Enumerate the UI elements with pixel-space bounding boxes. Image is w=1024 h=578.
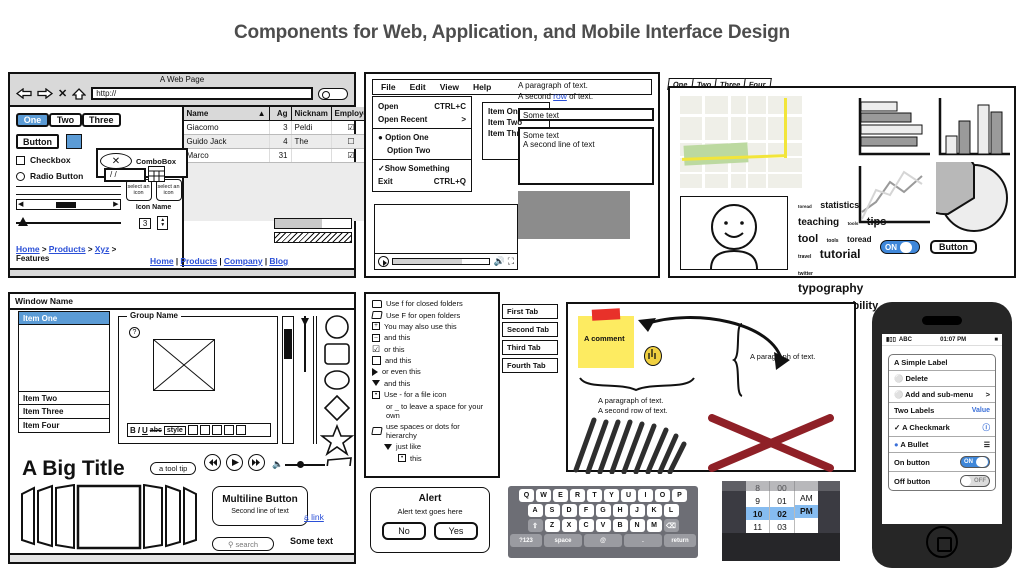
keyboard-row-3: ⇧ Z X C V B N M ⌫ <box>510 519 696 532</box>
key-z[interactable]: Z <box>545 519 560 532</box>
browser-toolbar: ✕ http:// <box>10 84 354 107</box>
tab-fourth[interactable]: Fourth Tab <box>502 358 558 373</box>
divider <box>16 186 121 187</box>
annotation-line-1: A paragraph of text. <box>598 396 663 405</box>
on-toggle[interactable]: ON <box>880 240 920 254</box>
toggle-and-button-row: ON Button <box>880 240 977 254</box>
picker-bottom-shade <box>722 533 840 561</box>
tree-item[interactable]: and this <box>368 378 496 389</box>
phone-row-off-button[interactable]: Off button OFF <box>889 472 995 490</box>
tree-item[interactable]: Use f for closed folders <box>368 298 496 309</box>
key-r[interactable]: R <box>570 489 585 502</box>
footer-link-products[interactable]: Products <box>180 256 217 266</box>
key-q[interactable]: Q <box>519 489 534 502</box>
volume-track <box>285 464 325 466</box>
on-screen-keyboard: Q W E R T Y U I O P A S D F G H J K L ⇧ … <box>508 486 698 558</box>
scroll-thumb[interactable] <box>284 329 292 359</box>
some-text-label: Some text <box>290 536 333 546</box>
home-icon[interactable] <box>72 88 86 100</box>
checkmark-icon: ✓ <box>894 423 900 432</box>
tree-item[interactable]: •this <box>368 453 496 464</box>
url-input[interactable]: http:// <box>91 87 313 100</box>
rich-text-toolbar: B I U abc style <box>127 423 271 437</box>
paragraph-line-1: A paragraph of text. <box>518 80 654 91</box>
tree-item[interactable]: –and this <box>368 332 496 343</box>
breadcrumb-home[interactable]: Home <box>16 244 40 254</box>
list-icon[interactable] <box>224 425 234 435</box>
key-h[interactable]: H <box>613 504 628 517</box>
numeric-key[interactable]: ?123 <box>510 534 542 547</box>
key-v[interactable]: V <box>596 519 611 532</box>
multiline-button-line2: Second line of text <box>213 508 307 515</box>
menu-item-option-two[interactable]: Option Two <box>373 144 471 157</box>
tag-item[interactable]: travel <box>798 255 811 260</box>
fast-forward-icon[interactable] <box>248 454 265 471</box>
tree-item[interactable]: or even this <box>368 366 496 377</box>
menu-edit[interactable]: Edit <box>410 82 426 92</box>
a-link[interactable]: a link <box>304 512 324 522</box>
align-center-icon[interactable] <box>200 425 210 435</box>
list-box: Item One Item Two Item Three Item Four <box>18 312 110 433</box>
menu-divider <box>373 128 471 129</box>
key-t[interactable]: T <box>587 489 602 502</box>
browser-window-title: A Web Page <box>10 74 354 84</box>
map-highway-vertical <box>784 98 787 158</box>
phone-row-add-submenu[interactable]: ⚪ Add and sub-menu > <box>889 387 995 403</box>
volume-knob[interactable] <box>297 461 304 468</box>
folder-open-icon <box>371 311 382 319</box>
close-x-icon[interactable]: ✕ <box>100 153 132 169</box>
minus-box-icon[interactable]: – <box>372 334 380 342</box>
cell-name: Marco <box>184 149 270 162</box>
fullscreen-icon[interactable]: ⛶ <box>508 256 514 267</box>
style-dropdown[interactable]: style <box>164 426 186 435</box>
strike-button[interactable]: abc <box>150 427 162 434</box>
pie-chart <box>936 162 1012 234</box>
player-progress[interactable] <box>392 258 490 265</box>
color-swatch[interactable] <box>66 134 82 149</box>
image-placeholder <box>518 191 630 239</box>
footer-link-company[interactable]: Company <box>224 256 263 266</box>
key-m[interactable]: M <box>647 519 662 532</box>
cell-nick: Peldi <box>292 121 332 134</box>
column-age[interactable]: Ag <box>270 107 292 120</box>
checkbox-label: Checkbox <box>30 155 71 165</box>
key-k[interactable]: K <box>647 504 662 517</box>
slider-knob[interactable] <box>18 217 28 226</box>
key-o[interactable]: O <box>655 489 670 502</box>
cell-nick <box>292 149 332 162</box>
menu-item-show-something[interactable]: ✓Show Something <box>373 162 471 175</box>
alert-body: Alert text goes here <box>371 507 489 516</box>
scroll-left-icon[interactable]: ◀ <box>18 201 23 208</box>
key-n[interactable]: N <box>630 519 645 532</box>
key-p[interactable]: P <box>672 489 687 502</box>
key-f[interactable]: F <box>579 504 594 517</box>
red-x-mark <box>706 414 836 472</box>
inline-link[interactable]: row <box>553 91 567 101</box>
key-e[interactable]: E <box>553 489 568 502</box>
calendar-icon[interactable] <box>148 166 165 182</box>
checkbox-icon[interactable] <box>16 156 25 165</box>
table-header: Name▲ Ag Nicknam Employe <box>184 107 372 121</box>
minute-option[interactable]: 03 <box>770 520 793 533</box>
tree-item[interactable]: or _ to leave a space for your own <box>368 400 496 420</box>
file-icon: • <box>372 391 380 399</box>
tab-first[interactable]: First Tab <box>502 304 558 319</box>
check-icon: ✓ <box>378 164 385 173</box>
window-status-bar <box>10 553 354 562</box>
triangle-down-icon[interactable] <box>384 444 392 450</box>
breadcrumb-sep: > <box>42 245 49 254</box>
alert-dialog: Alert Alert text goes here No Yes <box>370 487 490 553</box>
signal-bars-icon: ▮▯▯ <box>886 336 896 343</box>
select-an-icon-button-1[interactable]: select an icon <box>126 179 152 201</box>
phone-status-bar: ▮▯▯ ABC 01:07 PM ■ <box>882 334 1002 346</box>
checkbox-empty-icon[interactable] <box>372 356 381 365</box>
toggle-off[interactable]: OFF <box>960 475 990 487</box>
alert-title: Alert <box>371 493 489 504</box>
slider[interactable] <box>16 217 121 227</box>
play-icon[interactable] <box>378 256 389 267</box>
table-empty-area <box>184 163 372 221</box>
search-input[interactable]: ⚲ search <box>212 537 274 551</box>
map-widget[interactable] <box>680 96 802 188</box>
volume-icon[interactable]: 🔈 <box>272 459 283 470</box>
rewind-icon[interactable] <box>204 454 221 471</box>
textarea-line-2: A second line of text <box>523 140 649 149</box>
help-circle-icon[interactable]: ? <box>129 327 140 338</box>
plus-box-icon[interactable]: + <box>372 322 380 330</box>
radio-label: Radio Button <box>30 171 83 181</box>
tab-group: One Two Three <box>16 113 121 127</box>
vertical-slider[interactable] <box>300 316 310 444</box>
tab-one[interactable]: One <box>16 113 49 127</box>
tree-item[interactable]: use spaces or dots for hierarchy <box>368 421 496 441</box>
at-key[interactable]: @ <box>584 534 622 547</box>
progress-fill <box>275 219 322 228</box>
breadcrumb-sep2: > <box>88 245 95 254</box>
annotations-panel: A comment A paragraph of text. A paragra… <box>566 302 856 472</box>
multiline-button[interactable]: Multiline Button Second line of text <box>212 486 308 526</box>
cell-name: Guido Jack <box>184 135 270 148</box>
toggle-knob <box>900 242 912 253</box>
phone-carrier: ABC <box>899 337 912 343</box>
browser-controls-column: One Two Three Button Checkbox Radio Butt… <box>10 107 126 267</box>
table-row[interactable]: Guido Jack 4 The ☐ <box>184 135 372 149</box>
textarea[interactable]: Some text A second line of text <box>518 127 654 185</box>
underline-button[interactable]: U <box>142 426 148 435</box>
key-y[interactable]: Y <box>604 489 619 502</box>
reorder-icon[interactable]: ☰ <box>984 441 990 449</box>
phone-row-checkmark[interactable]: ✓ A Checkmark ⓘ <box>889 419 995 437</box>
phone-row-simple-label[interactable]: A Simple Label <box>889 355 995 371</box>
horizontal-scrollbar[interactable]: ◀ ▶ <box>16 199 121 210</box>
key-x[interactable]: X <box>562 519 577 532</box>
minute-option[interactable]: 01 <box>770 494 793 507</box>
tab-content-panel: toread statistics teaching tools tips to… <box>668 86 1016 278</box>
group-box: Group Name ? B I U abc style <box>118 316 278 444</box>
folder-closed-icon <box>372 300 382 308</box>
button[interactable]: Button <box>16 134 59 149</box>
status-bar <box>10 268 354 276</box>
window-title: Window Name <box>10 294 354 310</box>
toggle-on[interactable]: ON <box>960 456 990 468</box>
phone-row-two-labels[interactable]: Two Labels Value <box>889 403 995 419</box>
align-right-icon[interactable] <box>212 425 222 435</box>
footer-links: Home | Products | Company | Blog <box>150 256 288 266</box>
bullet-icon: ● <box>894 440 899 449</box>
vertical-scrollbar[interactable] <box>282 316 294 444</box>
yes-button[interactable]: Yes <box>434 522 478 540</box>
footer-link-blog[interactable]: Blog <box>269 256 288 266</box>
person-avatar-icon <box>680 196 788 270</box>
vertical-tab-list: First Tab Second Tab Third Tab Fourth Ta… <box>502 304 558 376</box>
triangle-right-icon[interactable] <box>372 368 378 376</box>
breadcrumb: Home > Products > Xyz > Features <box>16 244 126 263</box>
menu-item-exit[interactable]: Exit CTRL+Q <box>373 175 471 188</box>
divider-2 <box>16 194 121 195</box>
cell-name: Giacomo <box>184 121 270 134</box>
minute-option-selected[interactable]: 02 <box>770 507 793 520</box>
sort-asc-icon: ▲ <box>258 109 266 118</box>
checkbox-checked-icon[interactable]: ☑ <box>372 345 380 353</box>
meridiem-option-selected[interactable]: PM <box>795 505 818 518</box>
map-park-area <box>684 142 749 165</box>
spinner-value[interactable]: 3 <box>139 218 151 229</box>
key-c[interactable]: C <box>579 519 594 532</box>
radio-selected-icon: ● <box>378 133 383 142</box>
media-controls <box>204 454 265 471</box>
keyboard-row-1: Q W E R T Y U I O P <box>510 489 696 502</box>
radio-icon[interactable] <box>16 172 25 181</box>
phone-time: 01:07 PM <box>915 337 991 343</box>
tree-item[interactable]: just like <box>368 441 496 452</box>
key-u[interactable]: U <box>621 489 636 502</box>
slider-track <box>16 222 121 224</box>
battery-icon: ■ <box>994 337 998 343</box>
textarea-line-1: Some text <box>523 131 649 140</box>
combobox-label: ComboBox <box>136 157 176 166</box>
menu-item-open[interactable]: Open CTRL+C <box>373 100 471 113</box>
breadcrumb-products[interactable]: Products <box>49 244 86 254</box>
menu-view[interactable]: View <box>440 82 459 92</box>
menus-panel: File Edit View Help Open CTRL+C Open Rec… <box>364 72 660 278</box>
keyboard-row-2: A S D F G H J K L <box>510 504 696 517</box>
sticky-note[interactable]: A comment <box>578 316 634 368</box>
return-key[interactable]: return <box>664 534 696 547</box>
scribble-mark <box>572 416 690 474</box>
key-s[interactable]: S <box>545 504 560 517</box>
menu-help[interactable]: Help <box>473 82 491 92</box>
tag-item[interactable]: typography <box>798 282 863 295</box>
folder-open-icon <box>371 427 382 435</box>
back-arrow-icon[interactable] <box>16 88 32 99</box>
phone-speaker <box>922 316 962 325</box>
hour-option-selected[interactable]: 10 <box>746 507 769 520</box>
cell-age: 31 <box>270 149 292 162</box>
paragraph-line-2: A second row of text. <box>518 91 654 102</box>
no-button[interactable]: No <box>382 522 426 540</box>
progress-bar-indeterminate <box>274 232 352 243</box>
key-w[interactable]: W <box>536 489 551 502</box>
align-left-icon[interactable] <box>188 425 198 435</box>
time-picker: 8 9 10 11 12 00 01 02 03 04 AM PM <box>722 481 840 561</box>
bold-button[interactable]: B <box>130 426 136 435</box>
horizontal-bar-chart <box>852 96 932 160</box>
table-row[interactable]: Giacomo 3 Peldi ☑ <box>184 121 372 135</box>
icon-name-caption: Icon Name <box>126 204 182 211</box>
text-input[interactable]: Some text <box>518 108 654 121</box>
tag-item[interactable]: tutorial <box>820 248 861 261</box>
phone-row-bullet[interactable]: ● A Bullet ☰ <box>889 437 995 453</box>
tab-third[interactable]: Third Tab <box>502 340 558 355</box>
hour-option[interactable]: 9 <box>746 494 769 507</box>
cover-flow[interactable] <box>20 484 200 550</box>
text-widgets-column: A paragraph of text. A second row of tex… <box>518 80 654 239</box>
search-icon: ⚲ <box>228 540 234 549</box>
tree-item[interactable]: and this <box>368 355 496 366</box>
breadcrumb-features: Features <box>16 254 49 263</box>
tag-item[interactable]: tool <box>798 234 818 246</box>
list-item[interactable]: Item Four <box>18 418 110 433</box>
tab-two[interactable]: Two <box>49 113 82 127</box>
date-input[interactable]: / / <box>104 168 146 182</box>
breadcrumb-sep3: > <box>112 245 117 254</box>
shift-up-icon[interactable]: ⇧ <box>528 519 543 532</box>
triangle-down-icon[interactable] <box>372 380 380 386</box>
table-row[interactable]: Marco 31 ☑ <box>184 149 372 163</box>
phone-device: ▮▯▯ ABC 01:07 PM ■ A Simple Label ⚪ Dele… <box>872 302 1012 568</box>
vertical-bar-chart <box>932 96 1012 160</box>
tag-item[interactable]: tools <box>827 239 839 244</box>
key-g[interactable]: G <box>596 504 611 517</box>
tree-item[interactable]: +You may also use this <box>368 321 496 332</box>
sticky-note-tape <box>592 308 621 320</box>
search-icon[interactable] <box>318 88 348 100</box>
scroll-thumb[interactable] <box>56 202 76 208</box>
delete-icon: ⚪ <box>894 374 903 383</box>
tree-item[interactable]: •Use - for a file icon <box>368 389 496 400</box>
split-bar[interactable] <box>313 316 317 444</box>
tab-second[interactable]: Second Tab <box>502 322 558 337</box>
annotation-paragraph: A paragraph of text. <box>750 352 815 361</box>
forward-arrow-icon[interactable] <box>37 88 53 99</box>
curly-brace-icon <box>732 322 746 400</box>
tree-panel: Use f for closed folders Use F for open … <box>364 292 500 478</box>
shapes-column <box>320 314 360 471</box>
sticky-note-text: A comment <box>584 334 625 343</box>
list-empty-space <box>18 324 110 392</box>
tooltip: a tool tip <box>150 462 196 475</box>
tab-three[interactable]: Three <box>82 113 121 127</box>
volume-icon[interactable]: 🔊 <box>493 256 504 267</box>
tree-item[interactable]: ☑or this <box>368 344 496 355</box>
video-player: 🔊 ⛶ <box>374 204 518 270</box>
column-nickname[interactable]: Nicknam <box>292 107 332 120</box>
key-b[interactable]: B <box>613 519 628 532</box>
play-icon[interactable] <box>226 454 243 471</box>
keyboard-row-4: ?123 space @ . return <box>510 534 696 547</box>
curved-arrow-icon <box>634 312 804 374</box>
tag-item[interactable]: toread <box>798 205 812 210</box>
picker-top-shade <box>722 481 840 491</box>
key-j[interactable]: J <box>630 504 645 517</box>
phone-row-value: Value <box>972 407 990 414</box>
spinner-stepper[interactable]: ▲▼ <box>157 216 168 230</box>
key-d[interactable]: D <box>562 504 577 517</box>
dropdown-menu: Open CTRL+C Open Recent > ● Option One O… <box>372 96 472 192</box>
data-table: Name▲ Ag Nicknam Employe Giacomo 3 Peldi… <box>182 107 372 267</box>
alert-buttons: No Yes <box>371 522 489 540</box>
info-icon[interactable]: ⓘ <box>983 422 991 433</box>
tree-item[interactable]: Use F for open folders <box>368 309 496 320</box>
paragraph-block: A paragraph of text. A second row of tex… <box>518 80 654 102</box>
application-window-panel: Window Name Item One Item Two Item Three… <box>8 292 356 564</box>
multiline-button-line1: Multiline Button <box>213 494 307 505</box>
backspace-icon[interactable]: ⌫ <box>664 519 679 532</box>
player-controls: 🔊 ⛶ <box>375 253 517 269</box>
home-button-icon[interactable] <box>926 526 958 558</box>
image-icon[interactable] <box>236 425 246 435</box>
stop-x-icon[interactable]: ✕ <box>58 87 67 100</box>
group-label: Group Name <box>127 311 181 320</box>
menu-divider-2 <box>373 159 471 160</box>
brace-bottom-icon <box>578 376 698 394</box>
tag-item[interactable]: toread <box>847 236 871 244</box>
phone-row-delete[interactable]: ⚪ Delete <box>889 371 995 387</box>
phone-list: A Simple Label ⚪ Delete ⚪ Add and sub-me… <box>888 354 996 491</box>
page-title: Components for Web, Application, and Mob… <box>0 22 1024 44</box>
chevron-right-icon: > <box>986 390 990 399</box>
key-i[interactable]: I <box>638 489 653 502</box>
key-l[interactable]: L <box>664 504 679 517</box>
annotation-line-2: A second row of text. <box>598 406 668 415</box>
tag-item[interactable]: twitter <box>798 272 813 277</box>
hour-option[interactable]: 11 <box>746 520 769 533</box>
cell-nick: The <box>292 135 332 148</box>
file-icon: • <box>398 454 406 462</box>
italic-button[interactable]: I <box>138 426 140 435</box>
breadcrumb-xyz[interactable]: Xyz <box>95 244 110 254</box>
button[interactable]: Button <box>930 240 977 254</box>
phone-row-on-button[interactable]: On button ON <box>889 453 995 472</box>
cell-age: 3 <box>270 121 292 134</box>
space-key[interactable]: space <box>544 534 582 547</box>
menu-item-open-recent[interactable]: Open Recent > <box>373 113 471 126</box>
volume-slider[interactable]: 🔈 <box>272 459 325 470</box>
browser-content: One Two Three Button Checkbox Radio Butt… <box>10 107 354 267</box>
icon-picker-column: select an icon select an icon Icon Name … <box>126 107 182 267</box>
scroll-right-icon[interactable]: ▶ <box>113 201 118 208</box>
image-placeholder-icon <box>153 339 215 391</box>
dot-key[interactable]: . <box>624 534 662 547</box>
footer-link-home[interactable]: Home <box>150 256 174 266</box>
add-icon: ⚪ <box>894 390 903 399</box>
cell-age: 4 <box>270 135 292 148</box>
column-name[interactable]: Name▲ <box>184 107 270 120</box>
line-chart <box>852 164 932 230</box>
menu-file[interactable]: File <box>381 82 396 92</box>
tag-item[interactable]: teaching <box>798 218 839 229</box>
menu-item-option-one[interactable]: ● Option One <box>373 131 471 144</box>
tree-list: Use f for closed folders Use F for open … <box>366 294 498 468</box>
phone-screen: ▮▯▯ ABC 01:07 PM ■ A Simple Label ⚪ Dele… <box>882 334 1002 524</box>
progress-bar <box>274 218 352 229</box>
key-a[interactable]: A <box>528 504 543 517</box>
page-heading: A Big Title <box>22 457 125 481</box>
